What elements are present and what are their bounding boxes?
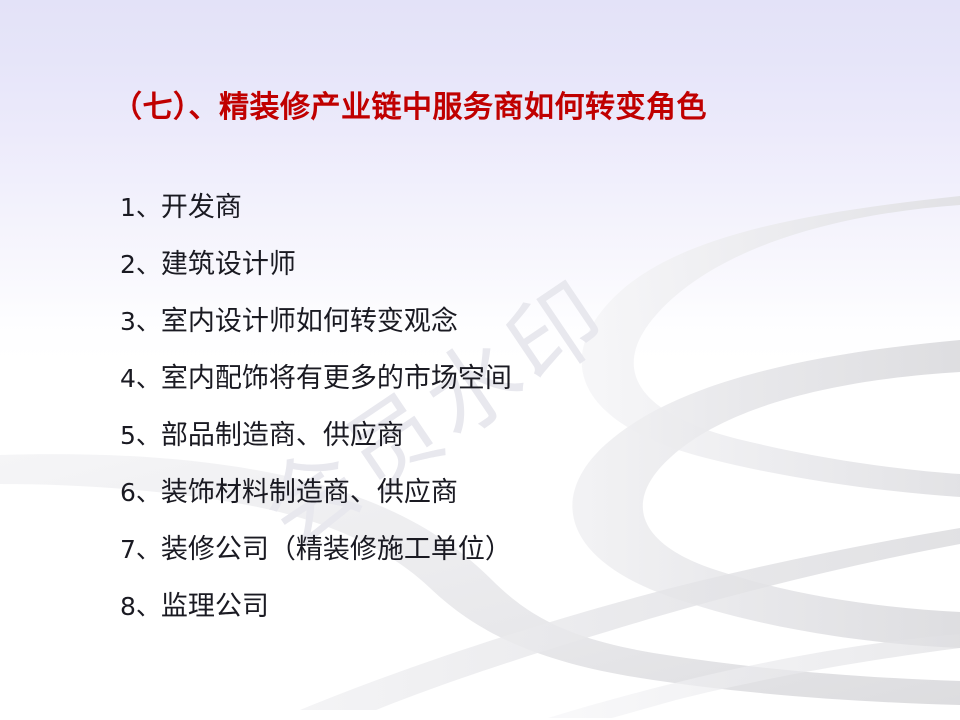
list-item-label: 室内设计师如何转变观念 [161,306,458,337]
list-item-number: 1、 [120,193,161,222]
presentation-slide: 会员水印 （七）、精装修产业链中服务商如何转变角色 1、开发商 2、建筑设计师 … [0,0,960,720]
list-item-number: 5、 [120,421,161,450]
list-item-label: 部品制造商、供应商 [161,420,404,451]
list-item-label: 装饰材料制造商、供应商 [161,477,458,508]
list-item: 3、室内设计师如何转变观念 [120,300,512,357]
list-item: 6、装饰材料制造商、供应商 [120,471,512,528]
slide-content: （七）、精装修产业链中服务商如何转变角色 1、开发商 2、建筑设计师 3、室内设… [0,0,960,720]
list-item-label: 建筑设计师 [161,249,296,280]
list-item: 1、开发商 [120,186,512,243]
list-item-number: 7、 [120,535,161,564]
list-item-number: 6、 [120,478,161,507]
list-item-label: 室内配饰将有更多的市场空间 [161,363,512,394]
list-item: 7、装修公司（精装修施工单位） [120,528,512,585]
page-title: （七）、精装修产业链中服务商如何转变角色 [112,82,707,126]
list-item-number: 4、 [120,364,161,393]
list-item-number: 3、 [120,307,161,336]
list-item: 8、监理公司 [120,585,512,642]
list-item-label: 开发商 [161,192,242,223]
list-item-label: 监理公司 [161,591,269,622]
list-item: 4、室内配饰将有更多的市场空间 [120,357,512,414]
bullet-list: 1、开发商 2、建筑设计师 3、室内设计师如何转变观念 4、室内配饰将有更多的市… [120,186,512,642]
list-item-number: 2、 [120,250,161,279]
list-item: 5、部品制造商、供应商 [120,414,512,471]
list-item-number: 8、 [120,592,161,621]
list-item-label: 装修公司（精装修施工单位） [161,534,512,565]
list-item: 2、建筑设计师 [120,243,512,300]
